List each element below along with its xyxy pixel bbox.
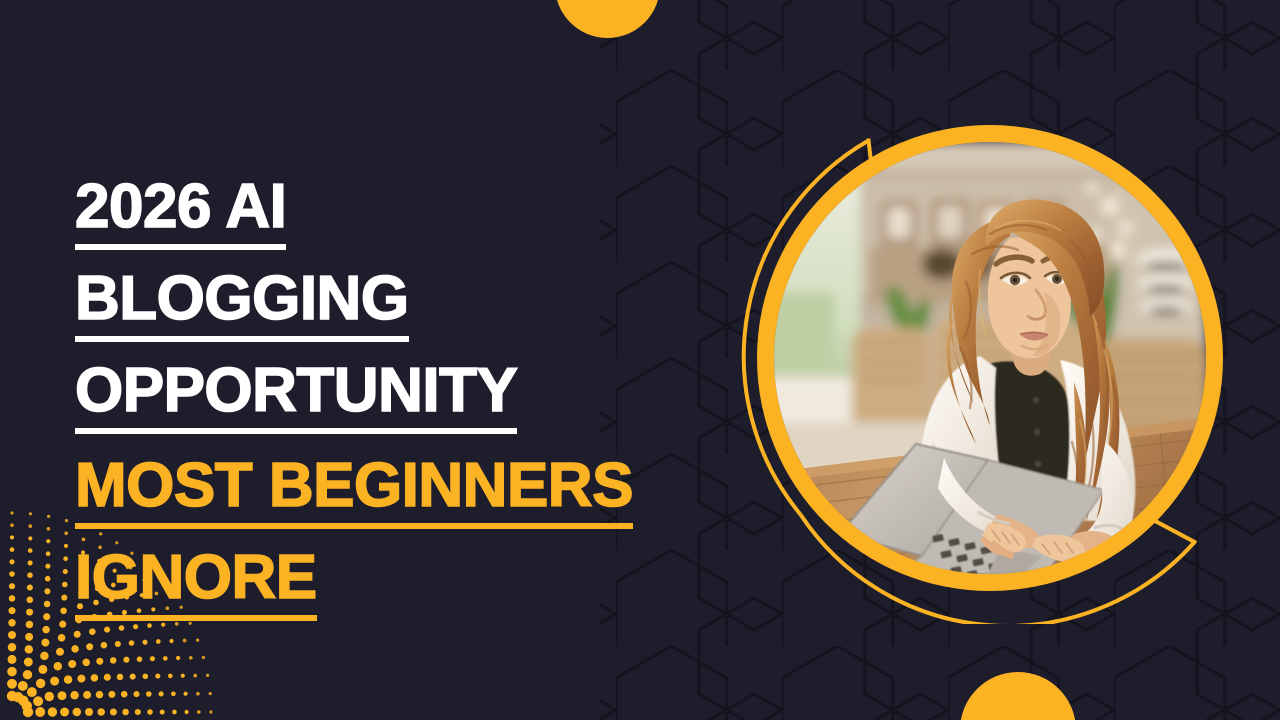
headline-line-1: 2026 AI: [75, 176, 685, 254]
headline-line-4: MOST BEGINNERS: [75, 455, 685, 533]
headline: 2026 AI BLOGGING OPPORTUNITY MOST BEGINN…: [75, 176, 685, 625]
headline-line-3: OPPORTUNITY: [75, 360, 685, 438]
headline-line-5: IGNORE: [75, 547, 685, 625]
thumbnail-canvas: 2026 AI BLOGGING OPPORTUNITY MOST BEGINN…: [0, 0, 1280, 720]
photo-ring-group: [728, 96, 1256, 624]
headline-line-2: BLOGGING: [75, 268, 685, 346]
hero-photo: [774, 142, 1206, 574]
